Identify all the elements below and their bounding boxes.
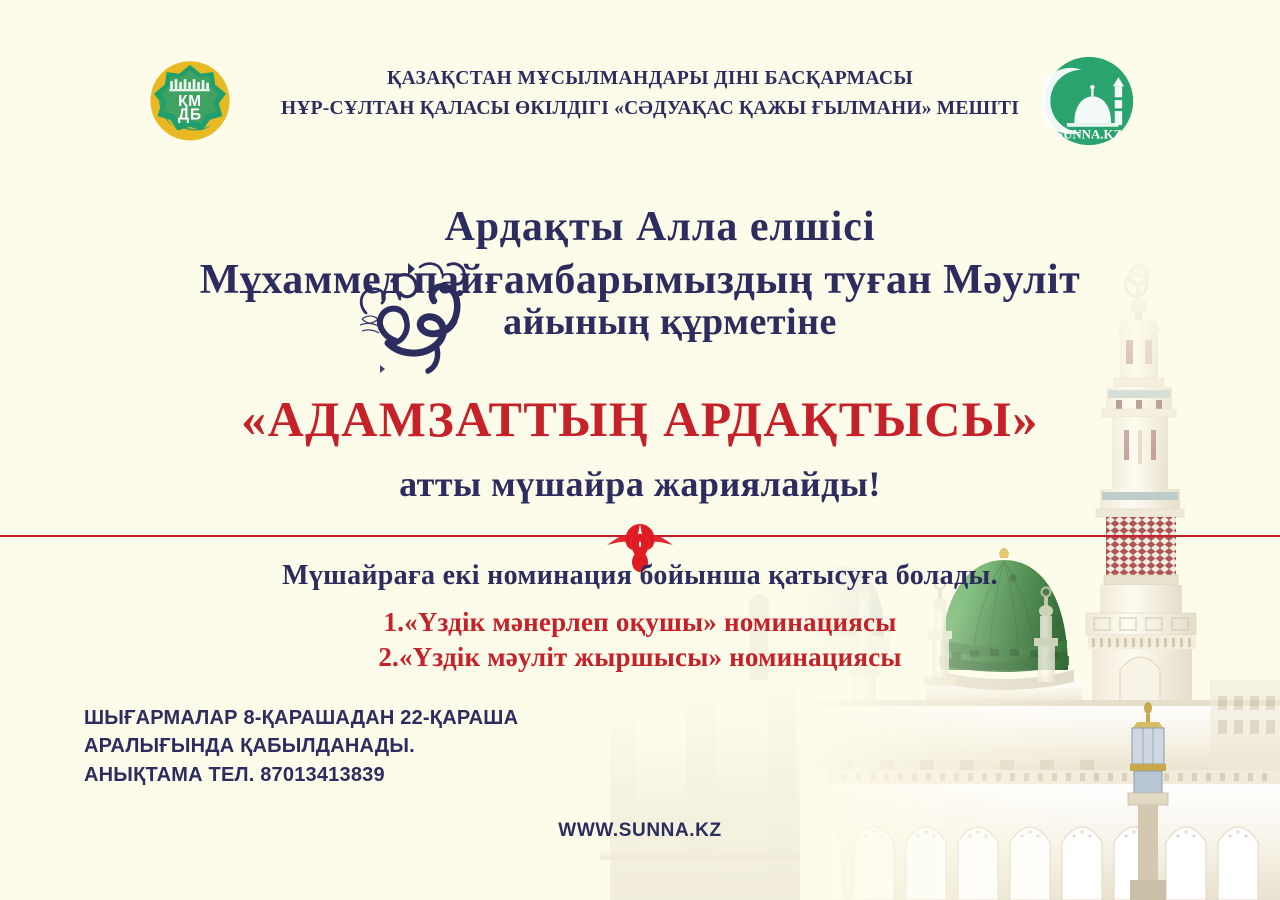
footer-website-url[interactable]: WWW.SUNNA.KZ bbox=[0, 820, 1280, 842]
title-line-3: айының құрметіне bbox=[0, 302, 1280, 344]
nomination-item-2: 2.«Үздік мәуліт жыршысы» номинациясы bbox=[0, 640, 1280, 675]
poster-subtitle: атты мүшайра жариялайды! bbox=[0, 463, 1280, 505]
svg-text:ДБ: ДБ bbox=[178, 107, 202, 124]
mosque-arcade bbox=[800, 784, 1280, 900]
nominations-list: 1.«Үздік мәнерлеп оқушы» номинациясы 2.«… bbox=[0, 605, 1280, 674]
header-line-2: НҰР-СҰЛТАН ҚАЛАСЫ ӨКІЛДІГІ «СӘДУАҚАС ҚАЖ… bbox=[270, 94, 1030, 124]
header-line-1: ҚАЗАҚСТАН МҰСЫЛМАНДАРЫ ДІНІ БАСҚАРМАСЫ bbox=[270, 64, 1030, 94]
organization-header: ҚАЗАҚСТАН МҰСЫЛМАНДАРЫ ДІНІ БАСҚАРМАСЫ Н… bbox=[270, 64, 1030, 124]
poster-header: ҚМ ДБ ҚАЗАҚСТАН МҰСЫЛМАНДАРЫ ДІНІ БАСҚАР… bbox=[0, 48, 1280, 144]
background-building bbox=[1210, 680, 1280, 770]
mosque-upper-wall bbox=[800, 702, 1280, 772]
info-line-3: АНЫҚТАМА ТЕЛ. 87013413839 bbox=[84, 761, 518, 789]
title-line-2: Мұхаммед пайғамбарымыздың туған Мәуліт bbox=[0, 255, 1280, 306]
poster-headline: «АДАМЗАТТЫҢ АРДАҚТЫСЫ» bbox=[0, 390, 1280, 448]
nominations-intro: Мүшайраға екі номинация бойынша қатысуға… bbox=[0, 560, 1280, 592]
kmdb-logo: ҚМ ДБ bbox=[145, 54, 235, 144]
info-line-1: ШЫҒАРМАЛАР 8-ҚАРАШАДАН 22-ҚАРАША bbox=[84, 704, 518, 732]
sunna-logo-label: SUNNA.KZ bbox=[1056, 128, 1122, 142]
nomination-item-1: 1.«Үздік мәнерлеп оқушы» номинациясы bbox=[0, 605, 1280, 640]
courtyard-lamp-post bbox=[1128, 702, 1168, 900]
sunna-kz-logo[interactable]: SUNNA.KZ bbox=[1043, 55, 1135, 147]
title-block: Ардақты Алла елшісі Мұхаммед пайғамбарым… bbox=[0, 205, 1280, 344]
poster-canvas: ҚМ ДБ ҚАЗАҚСТАН МҰСЫЛМАНДАРЫ ДІНІ БАСҚАР… bbox=[0, 0, 1280, 900]
title-line-1: Ардақты Алла елшісі bbox=[0, 205, 1280, 249]
info-line-2: АРАЛЫҒЫНДА ҚАБЫЛДАНАДЫ. bbox=[84, 732, 518, 760]
submission-info: ШЫҒАРМАЛАР 8-ҚАРАШАДАН 22-ҚАРАША АРАЛЫҒЫ… bbox=[84, 704, 518, 789]
